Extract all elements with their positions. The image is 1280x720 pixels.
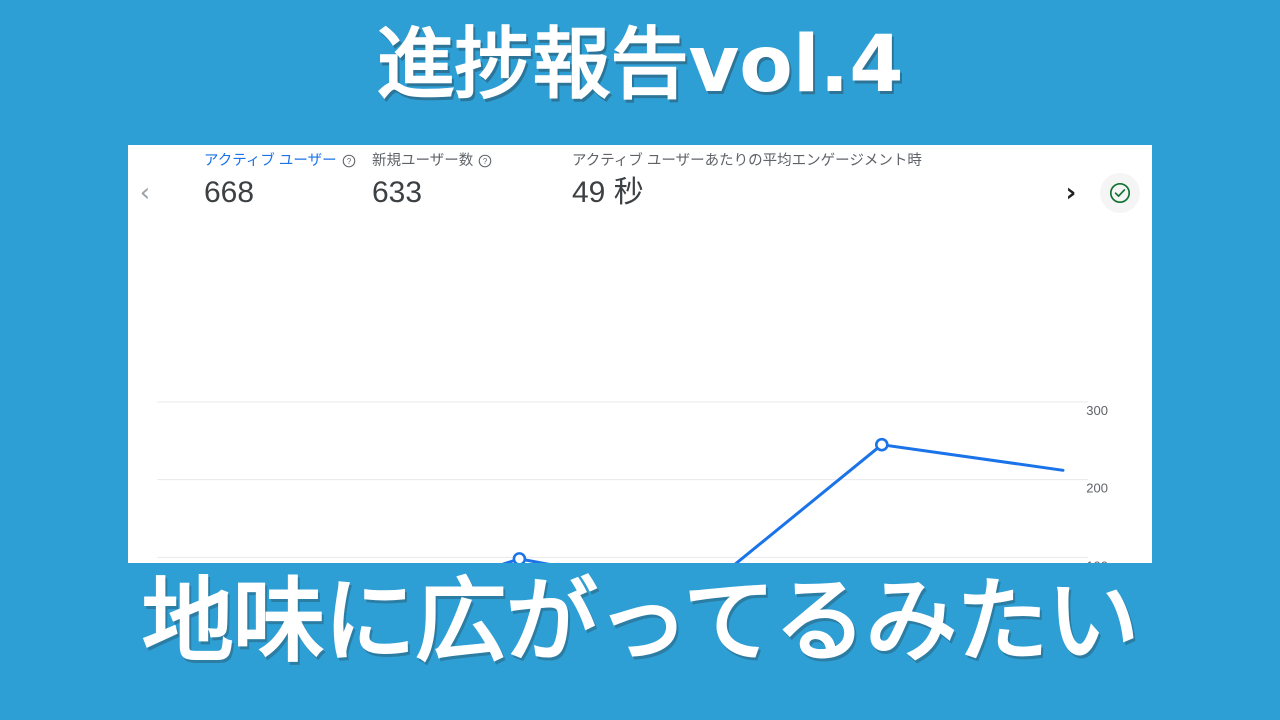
chevron-left-icon: ‹	[140, 180, 150, 206]
status-badge[interactable]	[1088, 145, 1152, 241]
y-axis-tick-label: 100	[1086, 558, 1108, 563]
metric-value: 668	[204, 173, 354, 213]
series-line	[157, 445, 1063, 563]
line-chart[interactable]: 01002003001718192021221月	[128, 241, 1152, 563]
metric-label: 新規ユーザー数	[372, 151, 473, 171]
help-icon[interactable]: ?	[478, 154, 492, 168]
metric-card-active-users[interactable]: アクティブ ユーザー ? 668	[162, 151, 372, 213]
help-icon[interactable]: ?	[342, 154, 356, 168]
next-metric-button[interactable]: ›	[1054, 163, 1088, 223]
check-circle-icon[interactable]	[1100, 173, 1140, 213]
poster-canvas: 進捗報告vol.4 ‹ アクティブ ユーザー ?	[0, 0, 1280, 720]
metric-list: アクティブ ユーザー ? 668 新規ユーザー数	[162, 145, 1054, 241]
metric-card-avg-engagement-time[interactable]: アクティブ ユーザーあたりの平均エンゲージメント時 49 秒	[572, 151, 1054, 213]
poster-caption-text: 地味に広がってるみたい	[142, 576, 1138, 668]
y-axis-tick-label: 200	[1086, 481, 1108, 496]
svg-text:?: ?	[346, 157, 351, 166]
poster-title: 進捗報告vol.4	[0, 26, 1280, 104]
previous-metric-button[interactable]: ‹	[128, 163, 162, 223]
metric-value: 49 秒	[572, 173, 1054, 213]
analytics-card: ‹ アクティブ ユーザー ? 668	[128, 145, 1152, 563]
metric-card-new-users[interactable]: 新規ユーザー数 ? 633	[372, 151, 572, 213]
metric-label-row: アクティブ ユーザーあたりの平均エンゲージメント時	[572, 151, 1054, 171]
metric-value: 633	[372, 173, 554, 213]
metric-header: ‹ アクティブ ユーザー ? 668	[128, 145, 1152, 241]
y-axis-tick-label: 300	[1086, 403, 1108, 418]
chevron-right-icon: ›	[1066, 180, 1077, 206]
data-point-marker	[876, 439, 887, 450]
metric-label: アクティブ ユーザーあたりの平均エンゲージメント時	[572, 151, 922, 171]
metric-label-row: 新規ユーザー数 ?	[372, 151, 554, 171]
metric-label-row: アクティブ ユーザー ?	[204, 151, 354, 171]
poster-caption: 地味に広がってるみたい	[0, 576, 1280, 668]
poster-title-text: 進捗報告vol.4	[376, 26, 903, 104]
chart-svg: 01002003001718192021221月	[128, 241, 1152, 563]
svg-text:?: ?	[483, 157, 488, 166]
metric-label: アクティブ ユーザー	[204, 151, 337, 171]
data-point-marker	[514, 553, 525, 563]
